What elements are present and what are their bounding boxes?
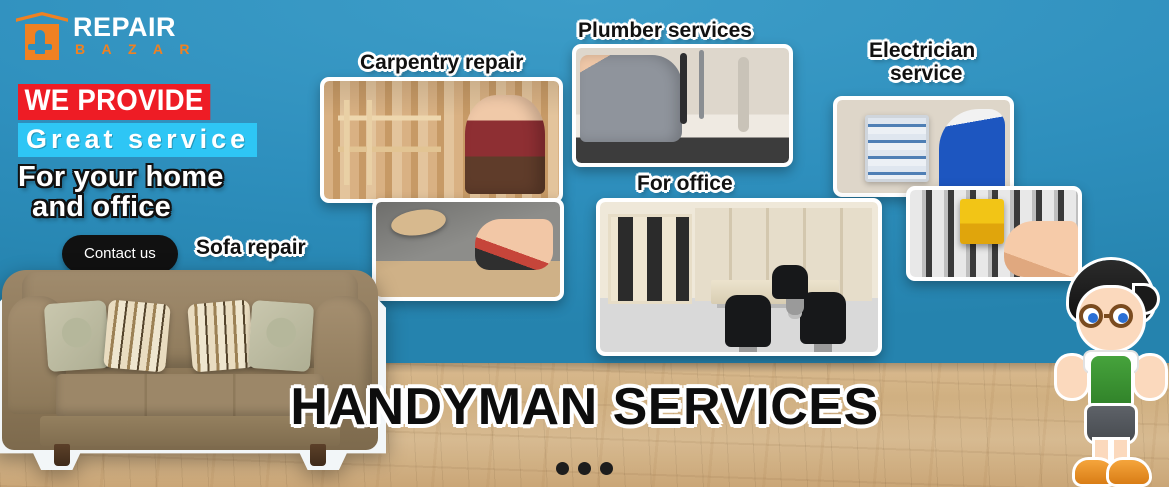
main-title: HANDYMAN SERVICES bbox=[0, 381, 1169, 433]
photo-card-electrician-panel[interactable] bbox=[833, 96, 1014, 197]
label-electrician-line2: service bbox=[890, 63, 962, 85]
logo-primary-text: REPAIR bbox=[73, 14, 196, 41]
promo-banner: REPAIR B A Z A R WE PROVIDE Great servic… bbox=[0, 0, 1169, 487]
photo-card-office[interactable] bbox=[596, 198, 882, 356]
logo-wordmark: REPAIR B A Z A R bbox=[73, 8, 196, 59]
office-chair-shape bbox=[772, 265, 808, 299]
sofa-pillow bbox=[187, 299, 255, 372]
handyman-boy-mascot bbox=[1055, 256, 1167, 487]
office-chair-shape bbox=[725, 295, 771, 347]
site-logo[interactable]: REPAIR B A Z A R bbox=[16, 8, 196, 60]
photo-electrician-panel-image bbox=[837, 100, 1010, 193]
carousel-dot-3[interactable] bbox=[600, 462, 613, 475]
photo-card-carpentry-handtools[interactable] bbox=[372, 198, 564, 301]
carousel-dot-2[interactable] bbox=[578, 462, 591, 475]
office-chair-shape bbox=[800, 292, 846, 344]
photo-card-plumber[interactable] bbox=[572, 44, 793, 167]
sofa-pillow bbox=[103, 299, 171, 372]
label-plumber-services: Plumber services bbox=[578, 20, 752, 42]
carousel-dot-1[interactable] bbox=[556, 462, 569, 475]
house-wrench-icon bbox=[16, 8, 68, 60]
photo-carpentry-workshop-image bbox=[324, 81, 559, 199]
headline-sub-line-1: For your home bbox=[18, 161, 224, 193]
label-electrician-line1: Electrician bbox=[869, 40, 975, 62]
carousel-dots[interactable] bbox=[0, 462, 1169, 475]
label-carpentry-repair: Carpentry repair bbox=[360, 52, 523, 74]
headline-line-we-provide: WE PROVIDE bbox=[18, 84, 210, 120]
label-sofa-repair: Sofa repair bbox=[196, 237, 306, 259]
logo-secondary-text: B A Z A R bbox=[73, 41, 196, 59]
photo-office-image bbox=[600, 202, 878, 352]
photo-carpentry-handtools-image bbox=[376, 202, 560, 297]
mascot-glasses-icon bbox=[1077, 304, 1147, 328]
headline-line-great-service: Great service bbox=[18, 123, 257, 157]
photo-plumber-image bbox=[576, 48, 789, 163]
label-for-office: For office bbox=[637, 173, 733, 195]
photo-electrician-breaker-image bbox=[910, 190, 1078, 277]
photo-card-carpentry-workshop[interactable] bbox=[320, 77, 563, 203]
sofa-pillow bbox=[248, 300, 315, 372]
headline-line-for-your-home: For your home and office bbox=[18, 162, 318, 223]
headline-sub-line-2: and office bbox=[18, 192, 318, 222]
sofa-pillow bbox=[44, 300, 111, 372]
sofa-illustration[interactable] bbox=[0, 262, 386, 470]
